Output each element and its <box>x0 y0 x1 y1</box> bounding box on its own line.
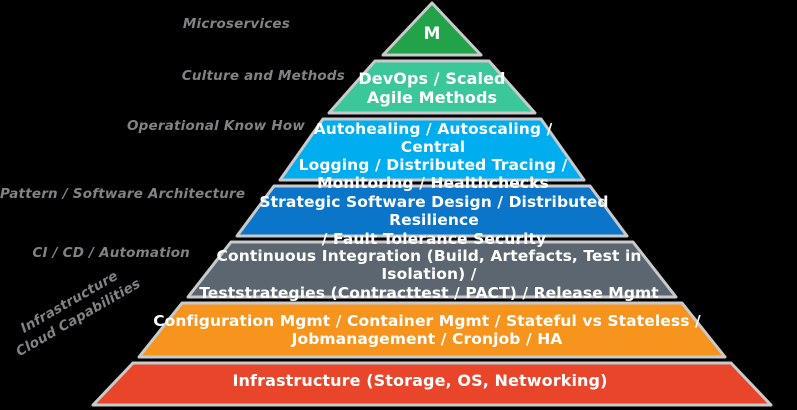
side-label-ci-cd-automation: CI / CD / Automation <box>0 245 190 261</box>
tier-shape-operational-know-how[interactable] <box>280 119 584 180</box>
side-label-culture-and-methods: Culture and Methods <box>30 68 345 84</box>
pyramid-shapes <box>0 0 797 410</box>
tier-shape-microservices[interactable] <box>383 3 481 55</box>
tier-shape-configuration-container-mgmt[interactable] <box>139 303 725 357</box>
tier-shape-pattern-software-architecture[interactable] <box>237 186 627 236</box>
tier-shape-culture-and-methods[interactable] <box>329 61 535 113</box>
pyramid-diagram: M DevOps / Scaled Agile Methods Autoheal… <box>0 0 797 410</box>
side-label-operational-know-how: Operational Know How <box>20 118 305 134</box>
side-label-microservices: Microservices <box>120 16 290 32</box>
tier-shape-infrastructure[interactable] <box>93 363 771 405</box>
tier-shape-ci-cd-automation[interactable] <box>188 242 676 297</box>
side-label-pattern-software-architecture: Pattern / Software Architecture <box>0 186 245 202</box>
